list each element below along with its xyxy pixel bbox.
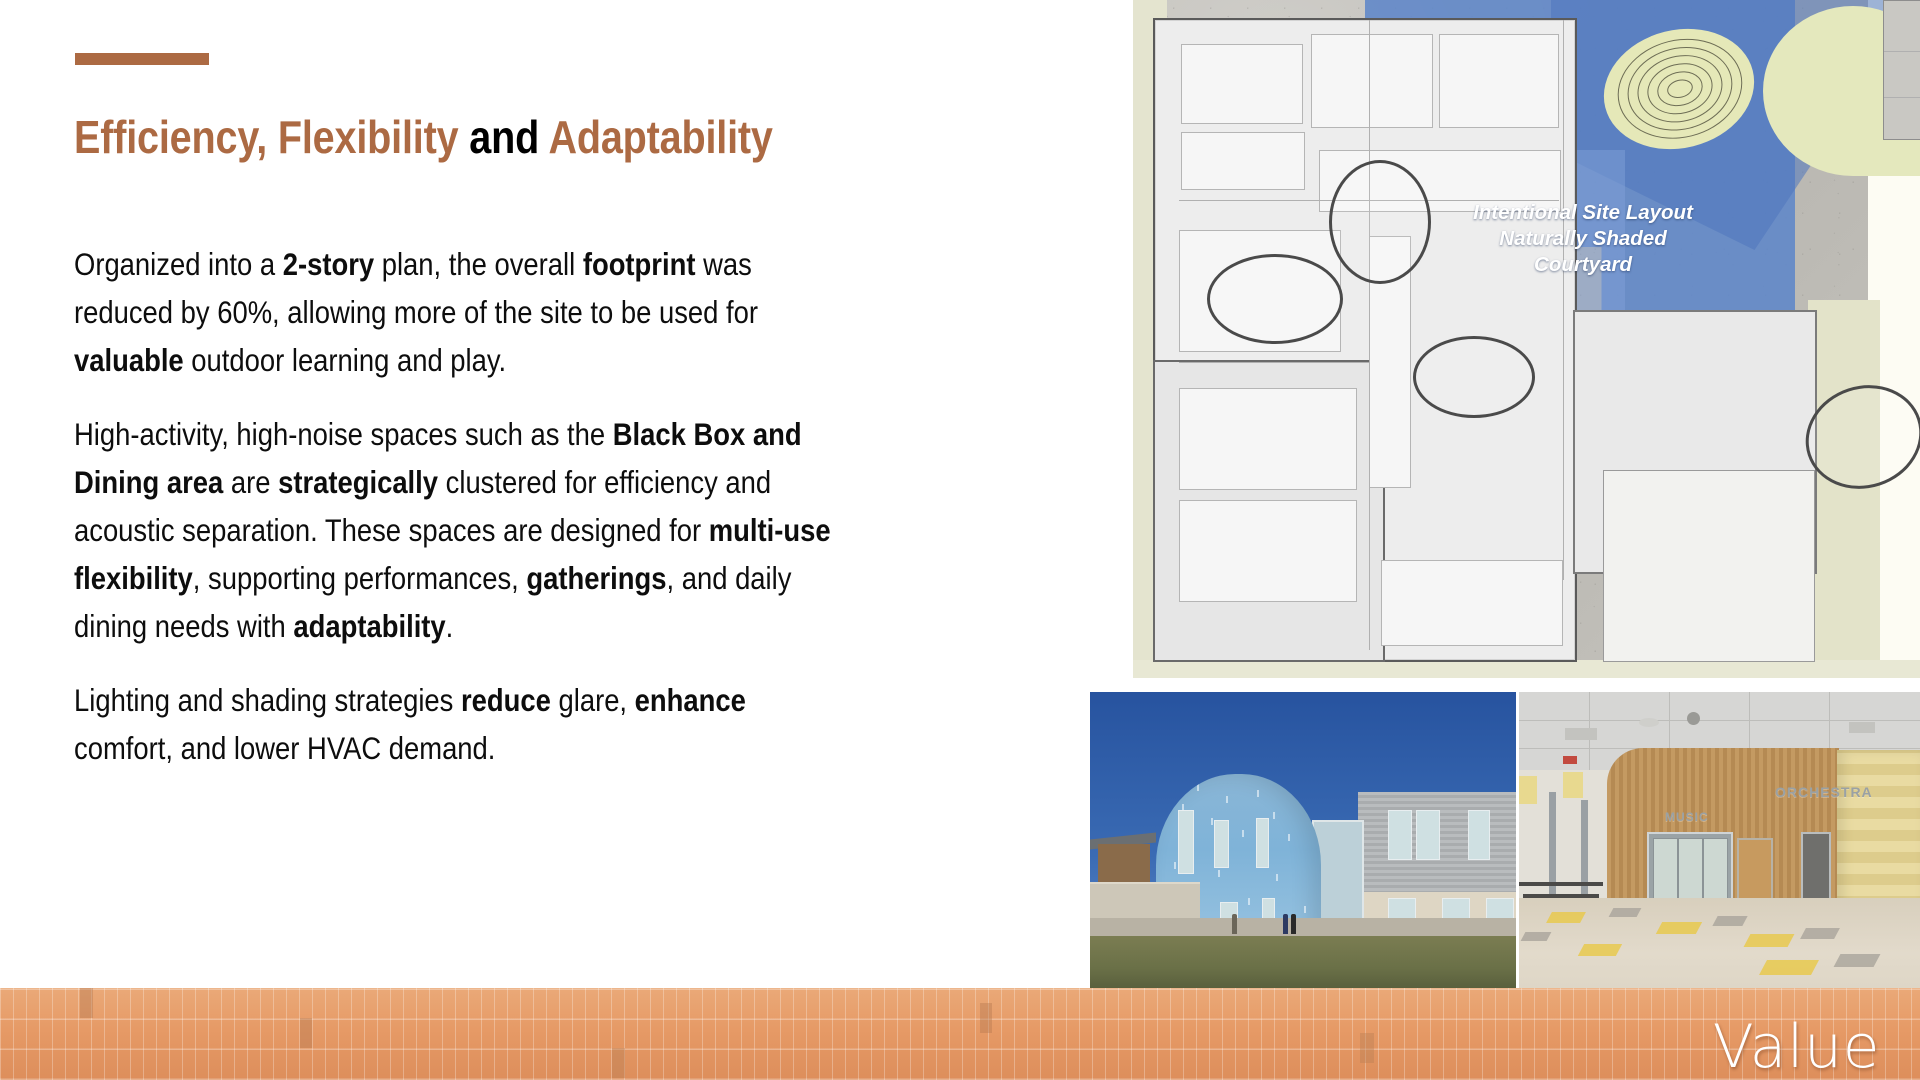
plan-room-h (1179, 500, 1357, 602)
exit-sign-icon (1563, 756, 1577, 764)
sign-music: MUSIC (1665, 810, 1709, 824)
plan-room-d (1181, 132, 1305, 190)
callout-oval-3 (1413, 336, 1535, 418)
plan-room-c (1439, 34, 1559, 128)
plan-room-a (1181, 44, 1303, 124)
annotation-line-3: Courtyard (1433, 252, 1733, 278)
building-wing-right-inner (1603, 470, 1815, 662)
callout-oval-1 (1329, 160, 1431, 284)
stone-garden-wall (1090, 882, 1200, 922)
page-title: Efficiency, Flexibility and Adaptability (74, 110, 934, 164)
sign-orchestra: ORCHESTRA (1775, 784, 1873, 800)
window-3 (1468, 810, 1490, 860)
section-label: Value (1713, 1012, 1880, 1080)
site-grass-right-inner (1808, 300, 1880, 678)
paragraph-2: High-activity, high-noise spaces such as… (74, 410, 848, 650)
title-accent-bar (75, 53, 209, 65)
site-grass-bottom (1133, 660, 1920, 678)
interior-corridor-photo: MUSIC ORCHESTRA (1519, 692, 1920, 990)
site-plan-annotation: Intentional Site Layout Naturally Shaded… (1433, 200, 1733, 278)
callout-oval-2 (1207, 254, 1343, 344)
paragraph-1: Organized into a 2-story plan, the overa… (74, 240, 848, 384)
person-2 (1283, 914, 1288, 934)
title-part-3: Adaptability (548, 111, 772, 163)
terrazzo-floor (1519, 898, 1920, 990)
person-1 (1232, 914, 1237, 934)
title-part-1: Efficiency, Flexibility (74, 111, 458, 163)
basketball-court (1883, 0, 1920, 140)
paragraph-3: Lighting and shading strategies reduce g… (74, 676, 848, 772)
plan-room-b (1311, 34, 1433, 128)
window-2 (1416, 810, 1440, 860)
plan-room-g (1179, 388, 1357, 490)
annotation-line-1: Intentional Site Layout (1433, 200, 1733, 226)
plan-room-i (1381, 560, 1563, 646)
window-1 (1388, 810, 1412, 860)
title-part-2: and (458, 111, 548, 163)
site-plan-image: N Intentional Site Layout Naturally Shad… (1133, 0, 1920, 678)
brick-footer-band: Value (0, 988, 1920, 1080)
brick-shade-variation (0, 988, 1920, 1080)
exterior-building-photo (1090, 692, 1516, 990)
body-text-column: Organized into a 2-story plan, the overa… (74, 240, 964, 798)
person-3 (1291, 914, 1296, 934)
annotation-line-2: Naturally Shaded (1433, 226, 1733, 252)
lawn (1090, 936, 1516, 990)
presentation-slide: Efficiency, Flexibility and Adaptability… (0, 0, 1920, 1080)
